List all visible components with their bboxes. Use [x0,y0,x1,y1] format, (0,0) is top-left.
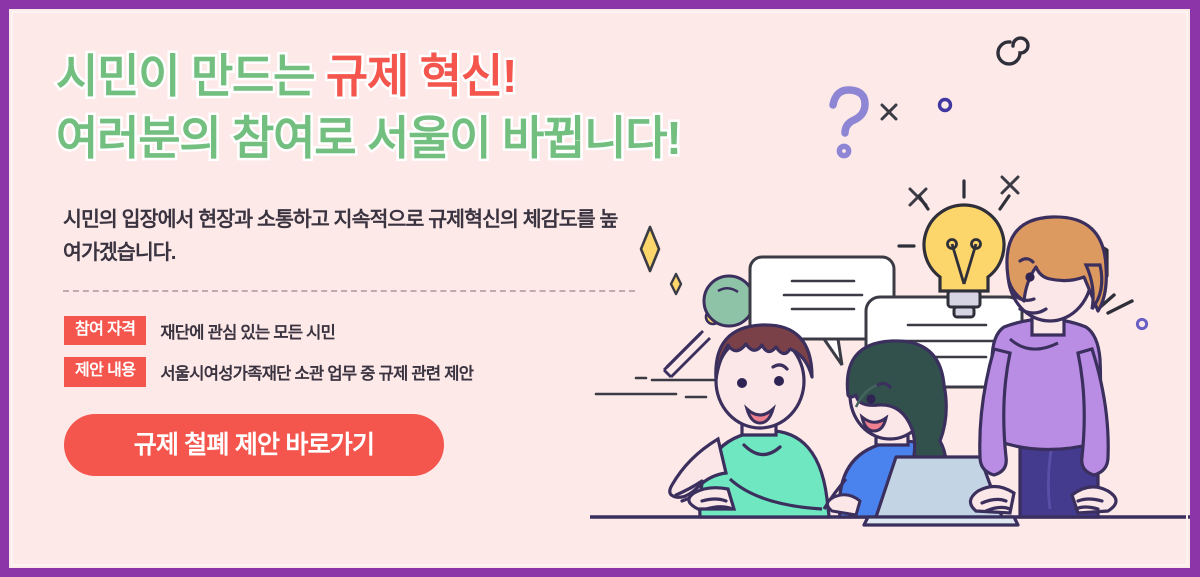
question-mark-icon [833,90,865,156]
page-title-line2: 여러분의 참여로 서울이 바뀝니다! [56,109,656,169]
spiral-icon [998,38,1028,64]
proposal-cta-button[interactable]: 규제 철폐 제안 바로가기 [64,414,444,476]
headline-line1-prefix: 시민이 만드는 [56,50,326,102]
x-sparkle-icons [882,105,1018,205]
info-row-proposal: 제안 내용 서울시여성가족재단 소관 업무 중 규제 관련 제안 [64,357,656,386]
info-row-proposal-text: 서울시여성가족재단 소관 업무 중 규제 관련 제안 [160,360,473,384]
headline-line2-text: 여러분의 참여로 서울이 바뀝니다! [56,112,681,164]
info-row-eligibility-text: 재단에 관심 있는 모든 시민 [160,319,335,343]
illustration-artwork: .ln { fill:none; stroke:#3b2f5e; stroke-… [590,9,1190,577]
subtitle-text: 시민의 입장에서 현장과 소통하고 지속적으로 규제혁신의 체감도를 높여가겠습… [63,203,623,269]
info-rows: 참여 자격 재단에 관심 있는 모든 시민 제안 내용 서울시여성가족재단 소관… [64,316,656,387]
banner-text-column: 시민이 만드는 규제 혁신! 여러분의 참여로 서울이 바뀝니다! 시민의 입장… [56,47,656,476]
headline-line1-accent: 규제 혁신! [326,50,516,102]
status-badge-eligibility: 참여 자격 [64,316,146,345]
status-badge-proposal: 제안 내용 [64,357,146,386]
dashed-divider [63,290,635,292]
page-title: 시민이 만드는 규제 혁신! [56,47,656,107]
promo-banner: .ln { fill:none; stroke:#3b2f5e; stroke-… [0,0,1200,577]
info-row-eligibility: 참여 자격 재단에 관심 있는 모든 시민 [64,316,656,345]
